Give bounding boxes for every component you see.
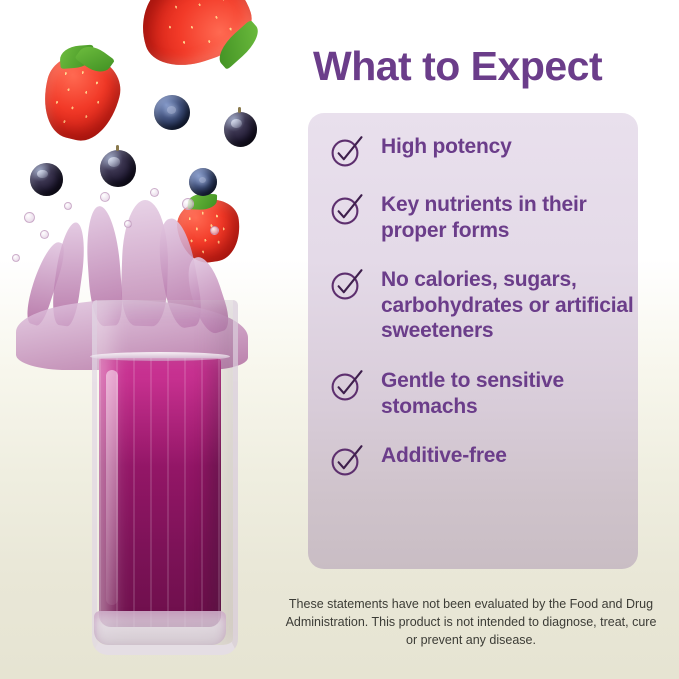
benefits-list: High potency Key nutrients in their prop… xyxy=(330,132,640,477)
drinking-glass xyxy=(92,300,228,645)
dark-berry-icon xyxy=(100,150,136,187)
list-item: No calories, sugars, carbohydrates or ar… xyxy=(330,265,640,344)
list-item: Key nutrients in their proper forms xyxy=(330,190,640,243)
dark-berry-icon xyxy=(30,163,63,196)
list-item-label: Gentle to sensitive stomachs xyxy=(381,366,640,419)
strawberry-icon xyxy=(35,48,127,147)
blueberry-icon xyxy=(154,95,190,130)
check-circle-icon xyxy=(330,134,366,168)
product-infographic: What to Expect High potency Key nutrient… xyxy=(0,0,679,679)
list-item-label: High potency xyxy=(381,132,512,160)
check-circle-icon xyxy=(330,267,366,301)
list-item: High potency xyxy=(330,132,640,168)
fda-disclaimer: These statements have not been evaluated… xyxy=(285,596,657,649)
blueberry-icon xyxy=(189,168,217,196)
list-item-label: Additive-free xyxy=(381,441,507,469)
list-item: Additive-free xyxy=(330,441,640,477)
strawberry-icon xyxy=(129,0,260,77)
list-item-label: No calories, sugars, carbohydrates or ar… xyxy=(381,265,640,344)
list-item-label: Key nutrients in their proper forms xyxy=(381,190,640,243)
check-circle-icon xyxy=(330,368,366,402)
list-item: Gentle to sensitive stomachs xyxy=(330,366,640,419)
page-title: What to Expect xyxy=(313,45,643,88)
check-circle-icon xyxy=(330,443,366,477)
grape-icon xyxy=(224,112,257,147)
check-circle-icon xyxy=(330,192,366,226)
product-artwork xyxy=(0,0,300,679)
